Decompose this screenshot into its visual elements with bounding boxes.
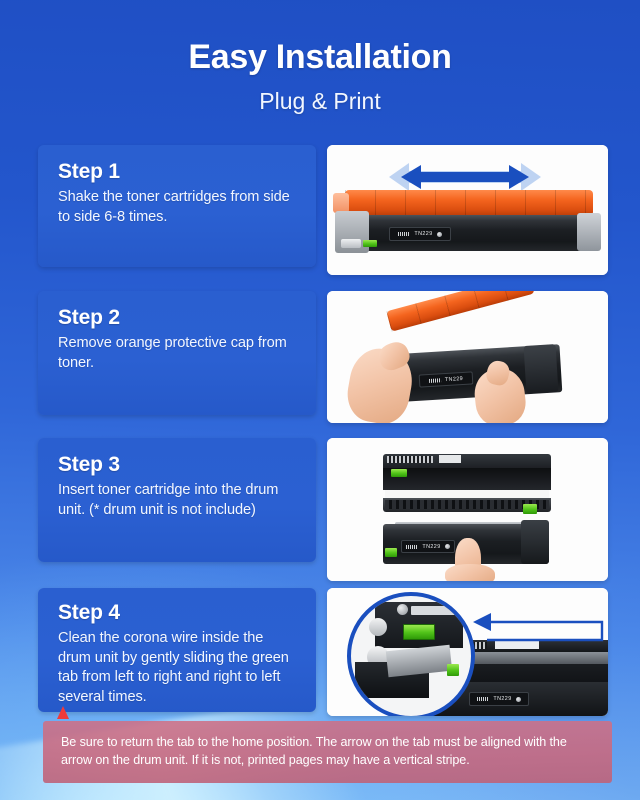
step-4-magnifier-circle (347, 592, 475, 716)
step-1-toner-body (349, 215, 585, 251)
warning-note: Be sure to return the tab to the home po… (43, 721, 612, 783)
step-4-zoom-green-tab-edge (447, 664, 459, 676)
step-1-cap-left-tip (333, 193, 349, 213)
step-3-description: Insert toner cartridge into the drum uni… (58, 481, 300, 520)
step-3-photo: TN229 (327, 438, 608, 581)
page-subtitle: Plug & Print (0, 76, 640, 114)
step-1-toner-label: TN229 (389, 227, 451, 241)
step-1-toner-left-nub (341, 239, 361, 248)
step-4-zoom-label (411, 606, 455, 615)
barcode-icon (398, 232, 410, 236)
step-3-image-card: TN229 (327, 438, 608, 581)
step-2-orange-cap (386, 291, 534, 332)
warning-note-text: Be sure to return the tab to the home po… (61, 734, 594, 769)
barcode-icon (406, 545, 418, 549)
step-3-toner-label-text: TN229 (422, 544, 440, 550)
step-4-zoom-roller-a (369, 618, 387, 636)
step-1-photo: TN229 (327, 145, 608, 275)
step-4-photo: TN229 (327, 588, 608, 716)
step-3-drum-sticker (439, 455, 461, 463)
step-1-text-card: Step 1 Shake the toner cartridges from s… (38, 145, 316, 267)
page-background: Easy Installation Plug & Print Step 1 Sh… (0, 0, 640, 800)
barcode-icon (429, 378, 441, 383)
step-2-toner-label-text: TN229 (445, 375, 464, 382)
step-4-zoom-white-rail (386, 645, 452, 678)
step-3-text-card: Step 3 Insert toner cartridge into the d… (38, 438, 316, 562)
step-2-image-card: TN229 (327, 291, 608, 423)
step-4-image-card: TN229 (327, 588, 608, 716)
step-3-toner-right-end (521, 520, 549, 564)
step-3-drum-barcode (387, 456, 433, 463)
step-row-4: Step 4 Clean the corona wire inside the … (38, 588, 610, 716)
step-4-description: Clean the corona wire inside the drum un… (58, 629, 300, 707)
step-1-toner-right-end (577, 213, 601, 251)
step-2-title: Step 2 (58, 305, 300, 330)
step-2-toner-right-end (524, 344, 559, 394)
step-2-photo: TN229 (327, 291, 608, 423)
step-3-title: Step 3 (58, 452, 300, 477)
step-1-title: Step 1 (58, 159, 300, 184)
header: Easy Installation Plug & Print (0, 0, 640, 130)
step-3-toner-label: TN229 (401, 540, 455, 553)
step-row-1: Step 1 Shake the toner cartridges from s… (38, 145, 610, 275)
note-pointer-icon (57, 706, 69, 719)
step-1-orange-cap (345, 190, 593, 216)
brand-dot-icon (445, 544, 450, 549)
step-1-green-tab (363, 240, 377, 247)
step-1-toner-label-text: TN229 (414, 231, 432, 237)
step-1-image-card: TN229 (327, 145, 608, 275)
step-4-text-card: Step 4 Clean the corona wire inside the … (38, 588, 316, 712)
step-2-description: Remove orange protective cap from toner. (58, 334, 300, 373)
step-2-text-card: Step 2 Remove orange protective cap from… (38, 291, 316, 415)
step-4-zoom-green-tab (403, 624, 435, 640)
step-1-description: Shake the toner cartridges from side to … (58, 188, 300, 227)
step-3-drum-green-tab-right (523, 504, 537, 514)
step-4-title: Step 4 (58, 600, 300, 625)
page-title: Easy Installation (0, 0, 640, 76)
step-3-hand (445, 564, 495, 581)
step-row-3: Step 3 Insert toner cartridge into the d… (38, 438, 610, 581)
step-3-toner-green-tab (385, 548, 397, 557)
step-3-drum-green-tab-left (391, 469, 407, 477)
step-row-2: Step 2 Remove orange protective cap from… (38, 291, 610, 423)
step-4-zoom-knob-icon (397, 604, 408, 615)
brand-dot-icon (437, 232, 442, 237)
step-3-drum-cavity (383, 468, 551, 490)
